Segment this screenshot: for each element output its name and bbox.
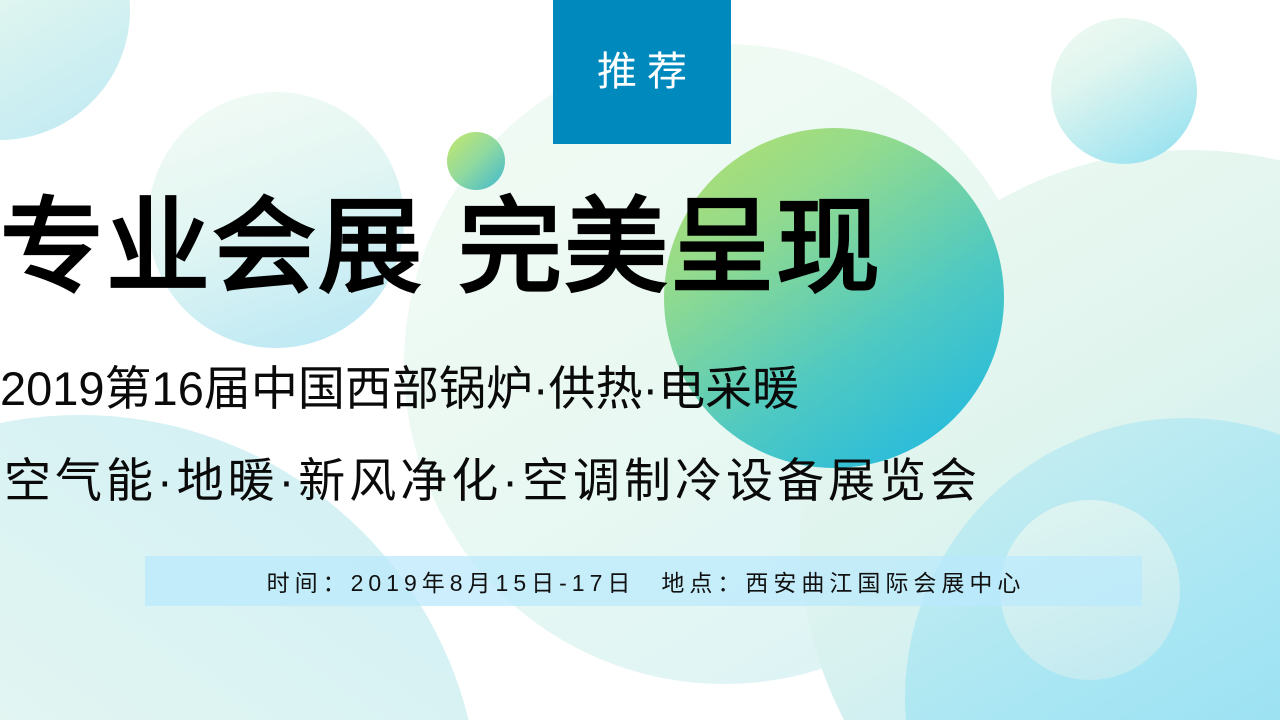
subtitle-line-2: 空气能·地暖·新风净化·空调制冷设备展览会	[0, 442, 1280, 511]
venue-label: 地点：	[661, 570, 745, 596]
recommended-badge-label: 推荐	[587, 52, 697, 92]
headline: 专业会展完美呈现	[0, 192, 1280, 304]
headline-part-1: 专业会展	[0, 190, 424, 306]
time-value: 2019年8月15日-17日	[351, 570, 636, 596]
decorative-circle-top-right	[1051, 18, 1197, 164]
event-banner: 推荐 专业会展完美呈现 2019第16届中国西部锅炉·供热·电采暖 空气能·地暖…	[0, 0, 1280, 720]
time-label: 时间：	[267, 570, 351, 596]
recommended-badge: 推荐	[553, 0, 731, 144]
event-info-bar: 时间：2019年8月15日-17日地点：西安曲江国际会展中心	[145, 556, 1142, 606]
info-bar-text: 时间：2019年8月15日-17日地点：西安曲江国际会展中心	[262, 564, 1026, 598]
headline-part-2: 完美呈现	[458, 190, 882, 306]
venue-value: 西安曲江国际会展中心	[745, 570, 1025, 596]
subtitle-line-1: 2019第16届中国西部锅炉·供热·电采暖	[0, 350, 1280, 419]
